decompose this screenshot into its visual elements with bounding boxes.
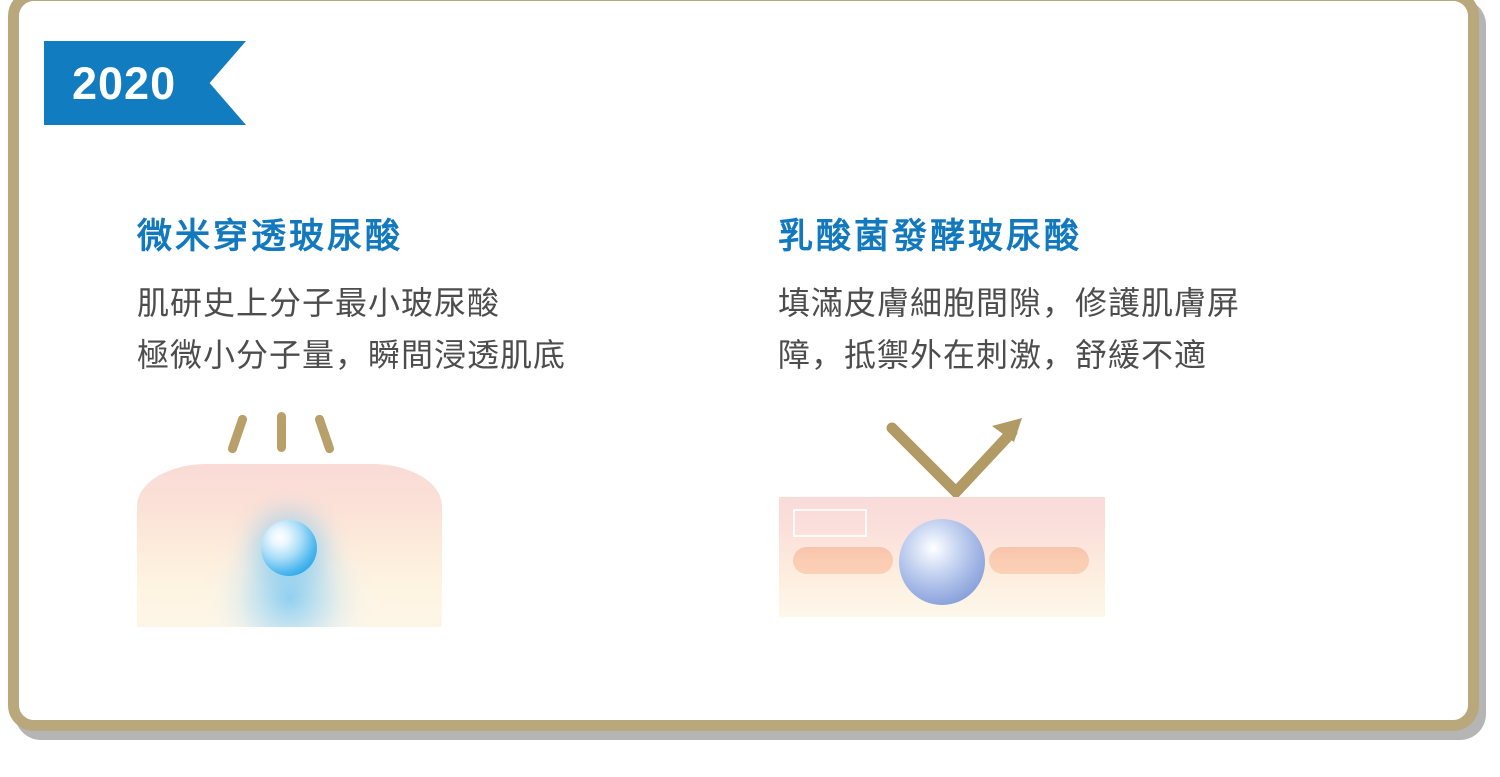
year-ribbon-label: 2020 (72, 61, 176, 106)
bounce-arrow-icon (884, 412, 1029, 507)
cell-bar-right-shape (989, 547, 1089, 574)
feature-2-body: 填滿皮膚細胞間隙，修護肌膚屏 障，抵禦外在刺激，舒緩不適 (778, 278, 1398, 382)
tick-mark-center-icon (277, 412, 286, 452)
feature-2-body-line-1: 填滿皮膚細胞間隙，修護肌膚屏 (778, 278, 1398, 330)
feature-2-body-line-2: 障，抵禦外在刺激，舒緩不適 (778, 330, 1398, 382)
barrier-repair-diagram (779, 412, 1109, 617)
feature-1-body: 肌研史上分子最小玻尿酸 極微小分子量，瞬間浸透肌底 (137, 278, 717, 382)
impact-tick-marks (225, 412, 335, 457)
tick-mark-right-icon (314, 414, 336, 455)
tick-mark-left-icon (227, 414, 249, 455)
feature-1-body-line-2: 極微小分子量，瞬間浸透肌底 (137, 330, 717, 382)
cell-outline-shape (793, 509, 867, 537)
cell-bar-left-shape (793, 547, 893, 574)
feature-1-body-line-1: 肌研史上分子最小玻尿酸 (137, 278, 717, 330)
periwinkle-molecule-icon (899, 519, 985, 605)
skin-layer-slab (779, 497, 1105, 617)
feature-1-heading: 微米穿透玻尿酸 (137, 216, 717, 260)
infographic-canvas: 2020 微米穿透玻尿酸 肌研史上分子最小玻尿酸 極微小分子量，瞬間浸透肌底 乳… (0, 0, 1500, 777)
feature-2-heading: 乳酸菌發酵玻尿酸 (778, 216, 1398, 260)
feature-column-1: 微米穿透玻尿酸 肌研史上分子最小玻尿酸 極微小分子量，瞬間浸透肌底 (137, 216, 717, 381)
feature-column-2: 乳酸菌發酵玻尿酸 填滿皮膚細胞間隙，修護肌膚屏 障，抵禦外在刺激，舒緩不適 (778, 216, 1398, 381)
glowing-blue-molecule-icon (261, 520, 317, 576)
